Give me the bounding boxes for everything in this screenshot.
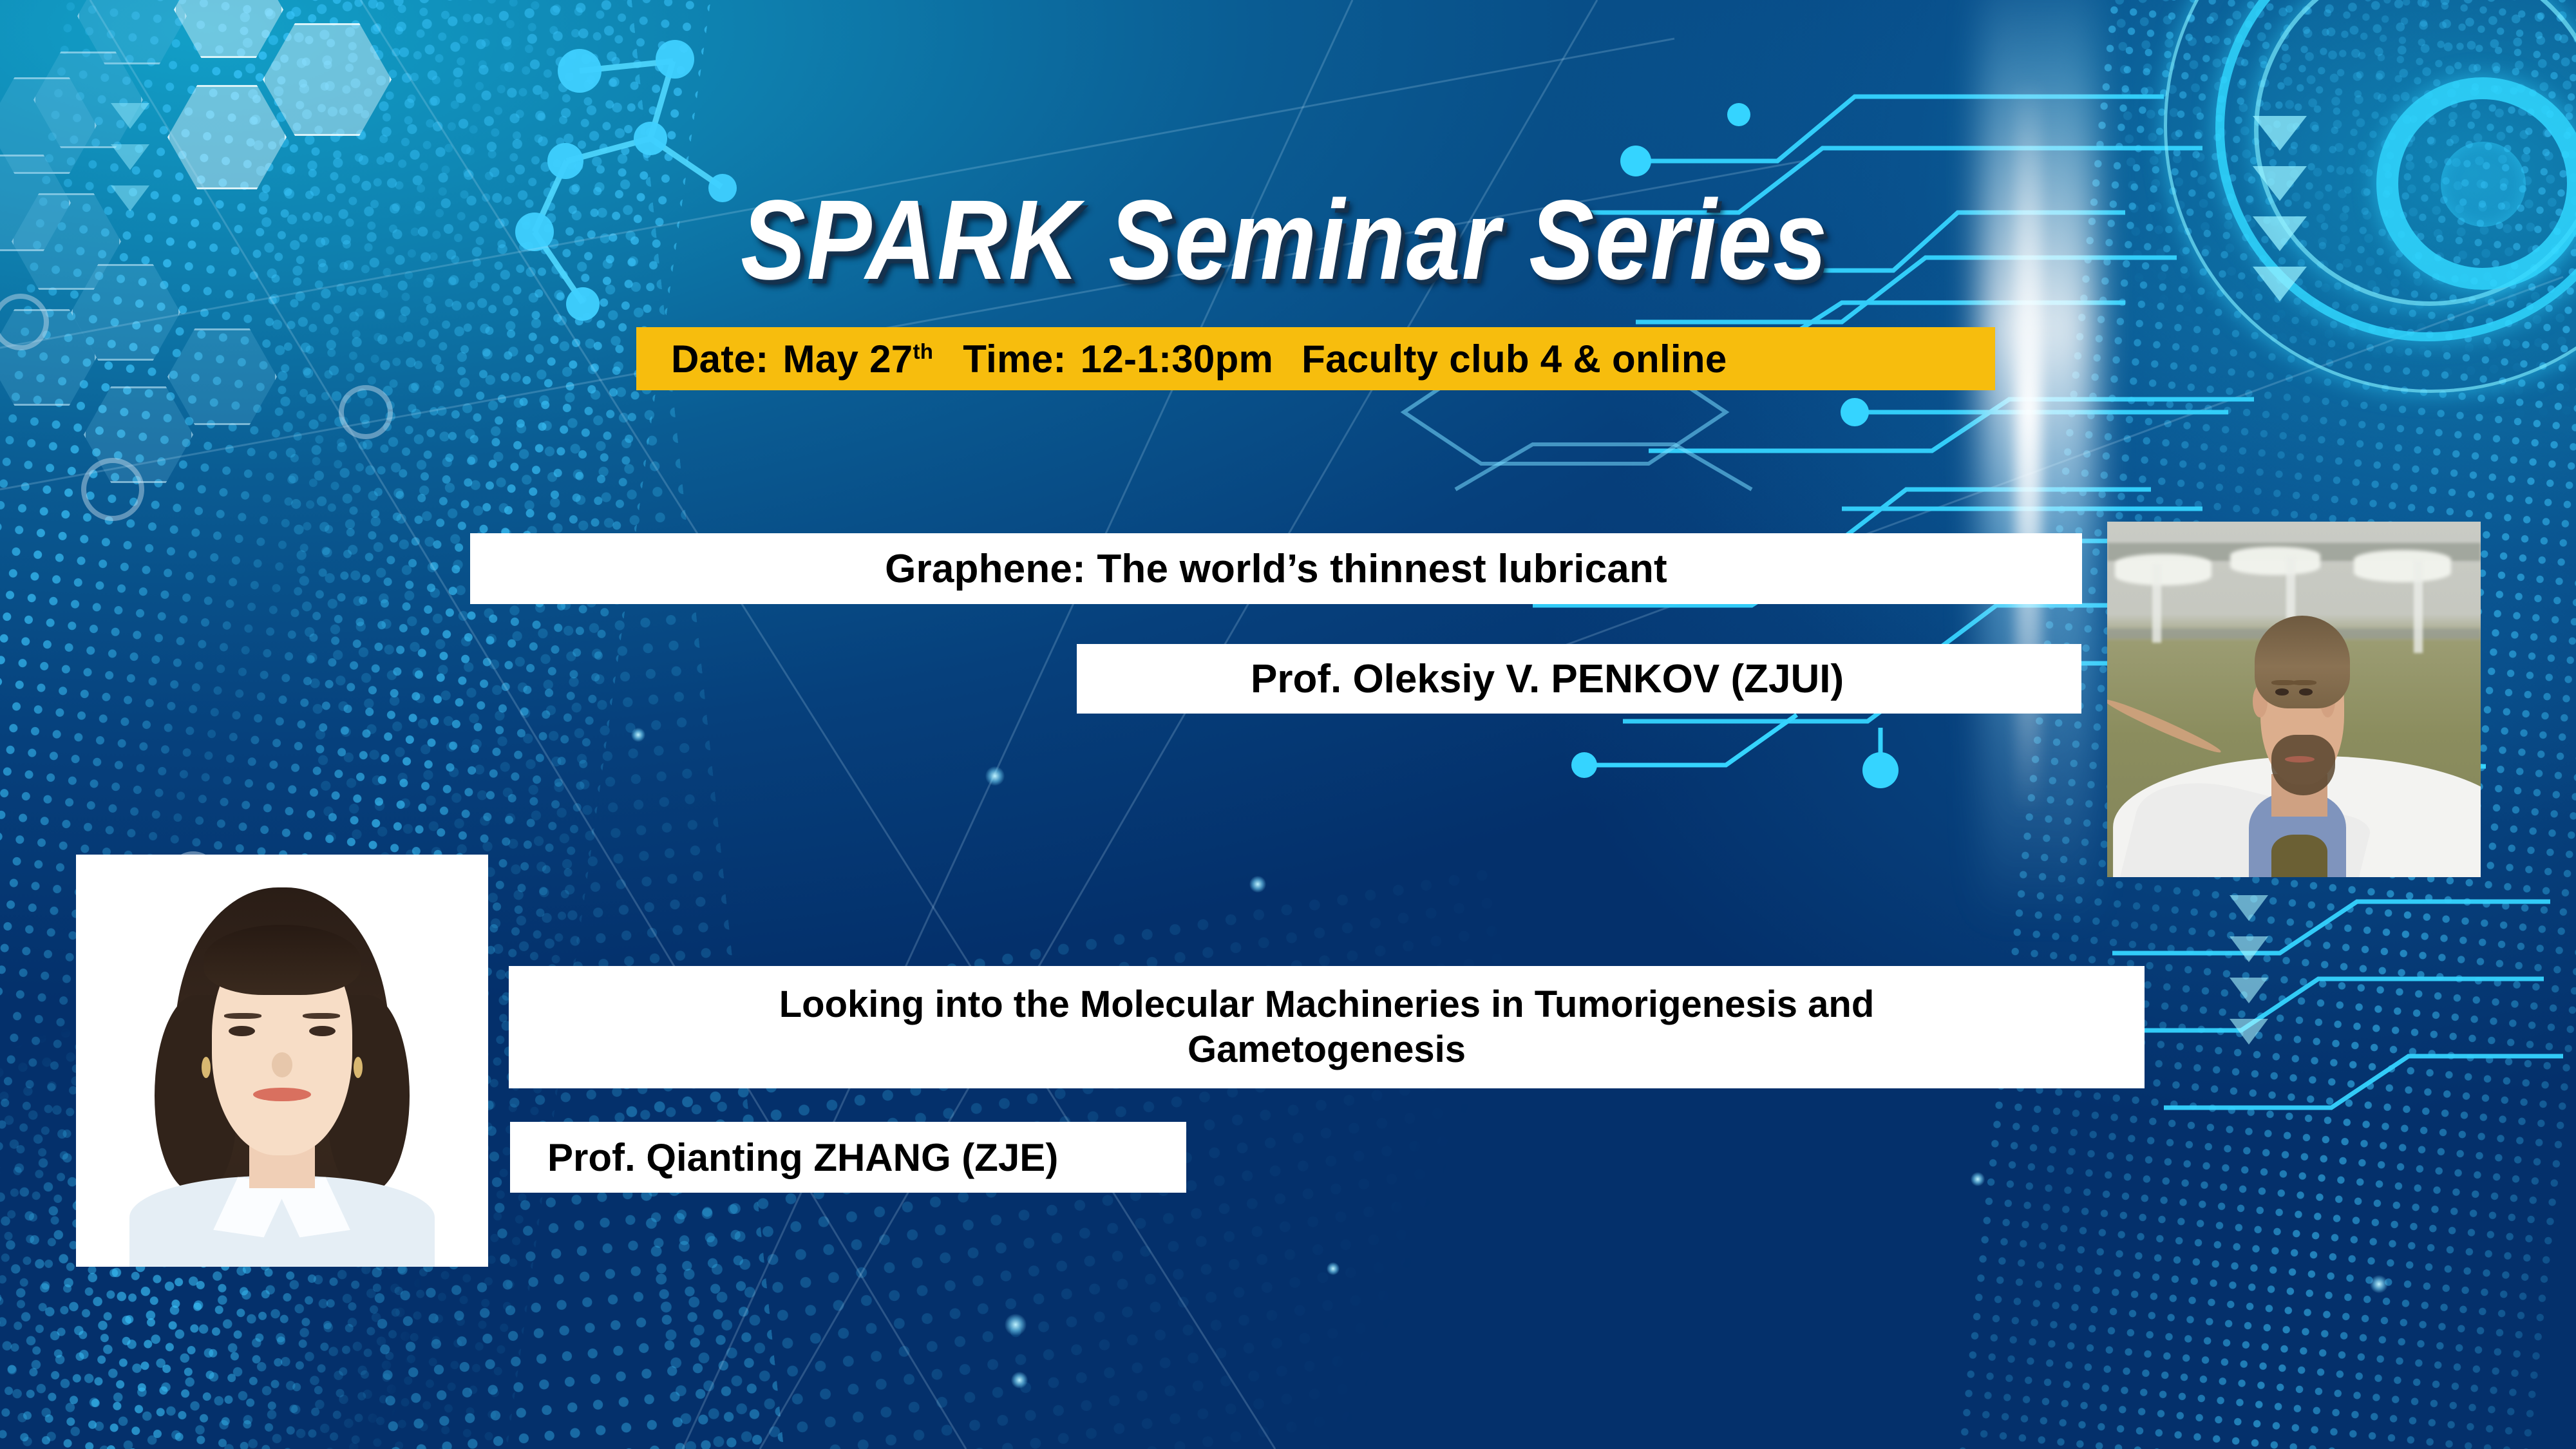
- seminar-poster: SPARK Seminar Series Date:May 27thTime:1…: [0, 0, 2576, 1449]
- talk-2-title-line-1: Looking into the Molecular Machineries i…: [779, 982, 1875, 1027]
- date-time-banner: Date:May 27thTime:12-1:30pmFaculty club …: [636, 327, 1995, 390]
- talk-2-title-line-2: Gametogenesis: [1188, 1027, 1466, 1072]
- location-value: Faculty club 4 & online: [1302, 337, 1727, 381]
- talk-1-title: Graphene: The world’s thinnest lubricant: [885, 546, 1667, 592]
- date-value: May 27: [783, 337, 913, 381]
- speaker-1-photo: [2107, 522, 2481, 877]
- date-label: Date:: [671, 337, 769, 381]
- speaker-2-photo: [76, 855, 488, 1267]
- talk-1-title-box: Graphene: The world’s thinnest lubricant: [470, 533, 2082, 604]
- banner-text: Date:May 27thTime:12-1:30pmFaculty club …: [636, 337, 1727, 381]
- time-label: Time:: [963, 337, 1066, 381]
- talk-2-speaker-box: Prof. Qianting ZHANG (ZJE): [510, 1122, 1186, 1193]
- talk-2-title-box: Looking into the Molecular Machineries i…: [509, 966, 2145, 1088]
- date-ordinal: th: [913, 339, 933, 363]
- talk-2-speaker: Prof. Qianting ZHANG (ZJE): [510, 1135, 1058, 1180]
- talk-1-speaker: Prof. Oleksiy V. PENKOV (ZJUI): [1077, 656, 1844, 702]
- page-title: SPARK Seminar Series: [741, 184, 1828, 297]
- talk-1-speaker-box: Prof. Oleksiy V. PENKOV (ZJUI): [1077, 644, 2081, 714]
- content-layer: SPARK Seminar Series Date:May 27thTime:1…: [0, 0, 2576, 1449]
- time-value: 12-1:30pm: [1081, 337, 1274, 381]
